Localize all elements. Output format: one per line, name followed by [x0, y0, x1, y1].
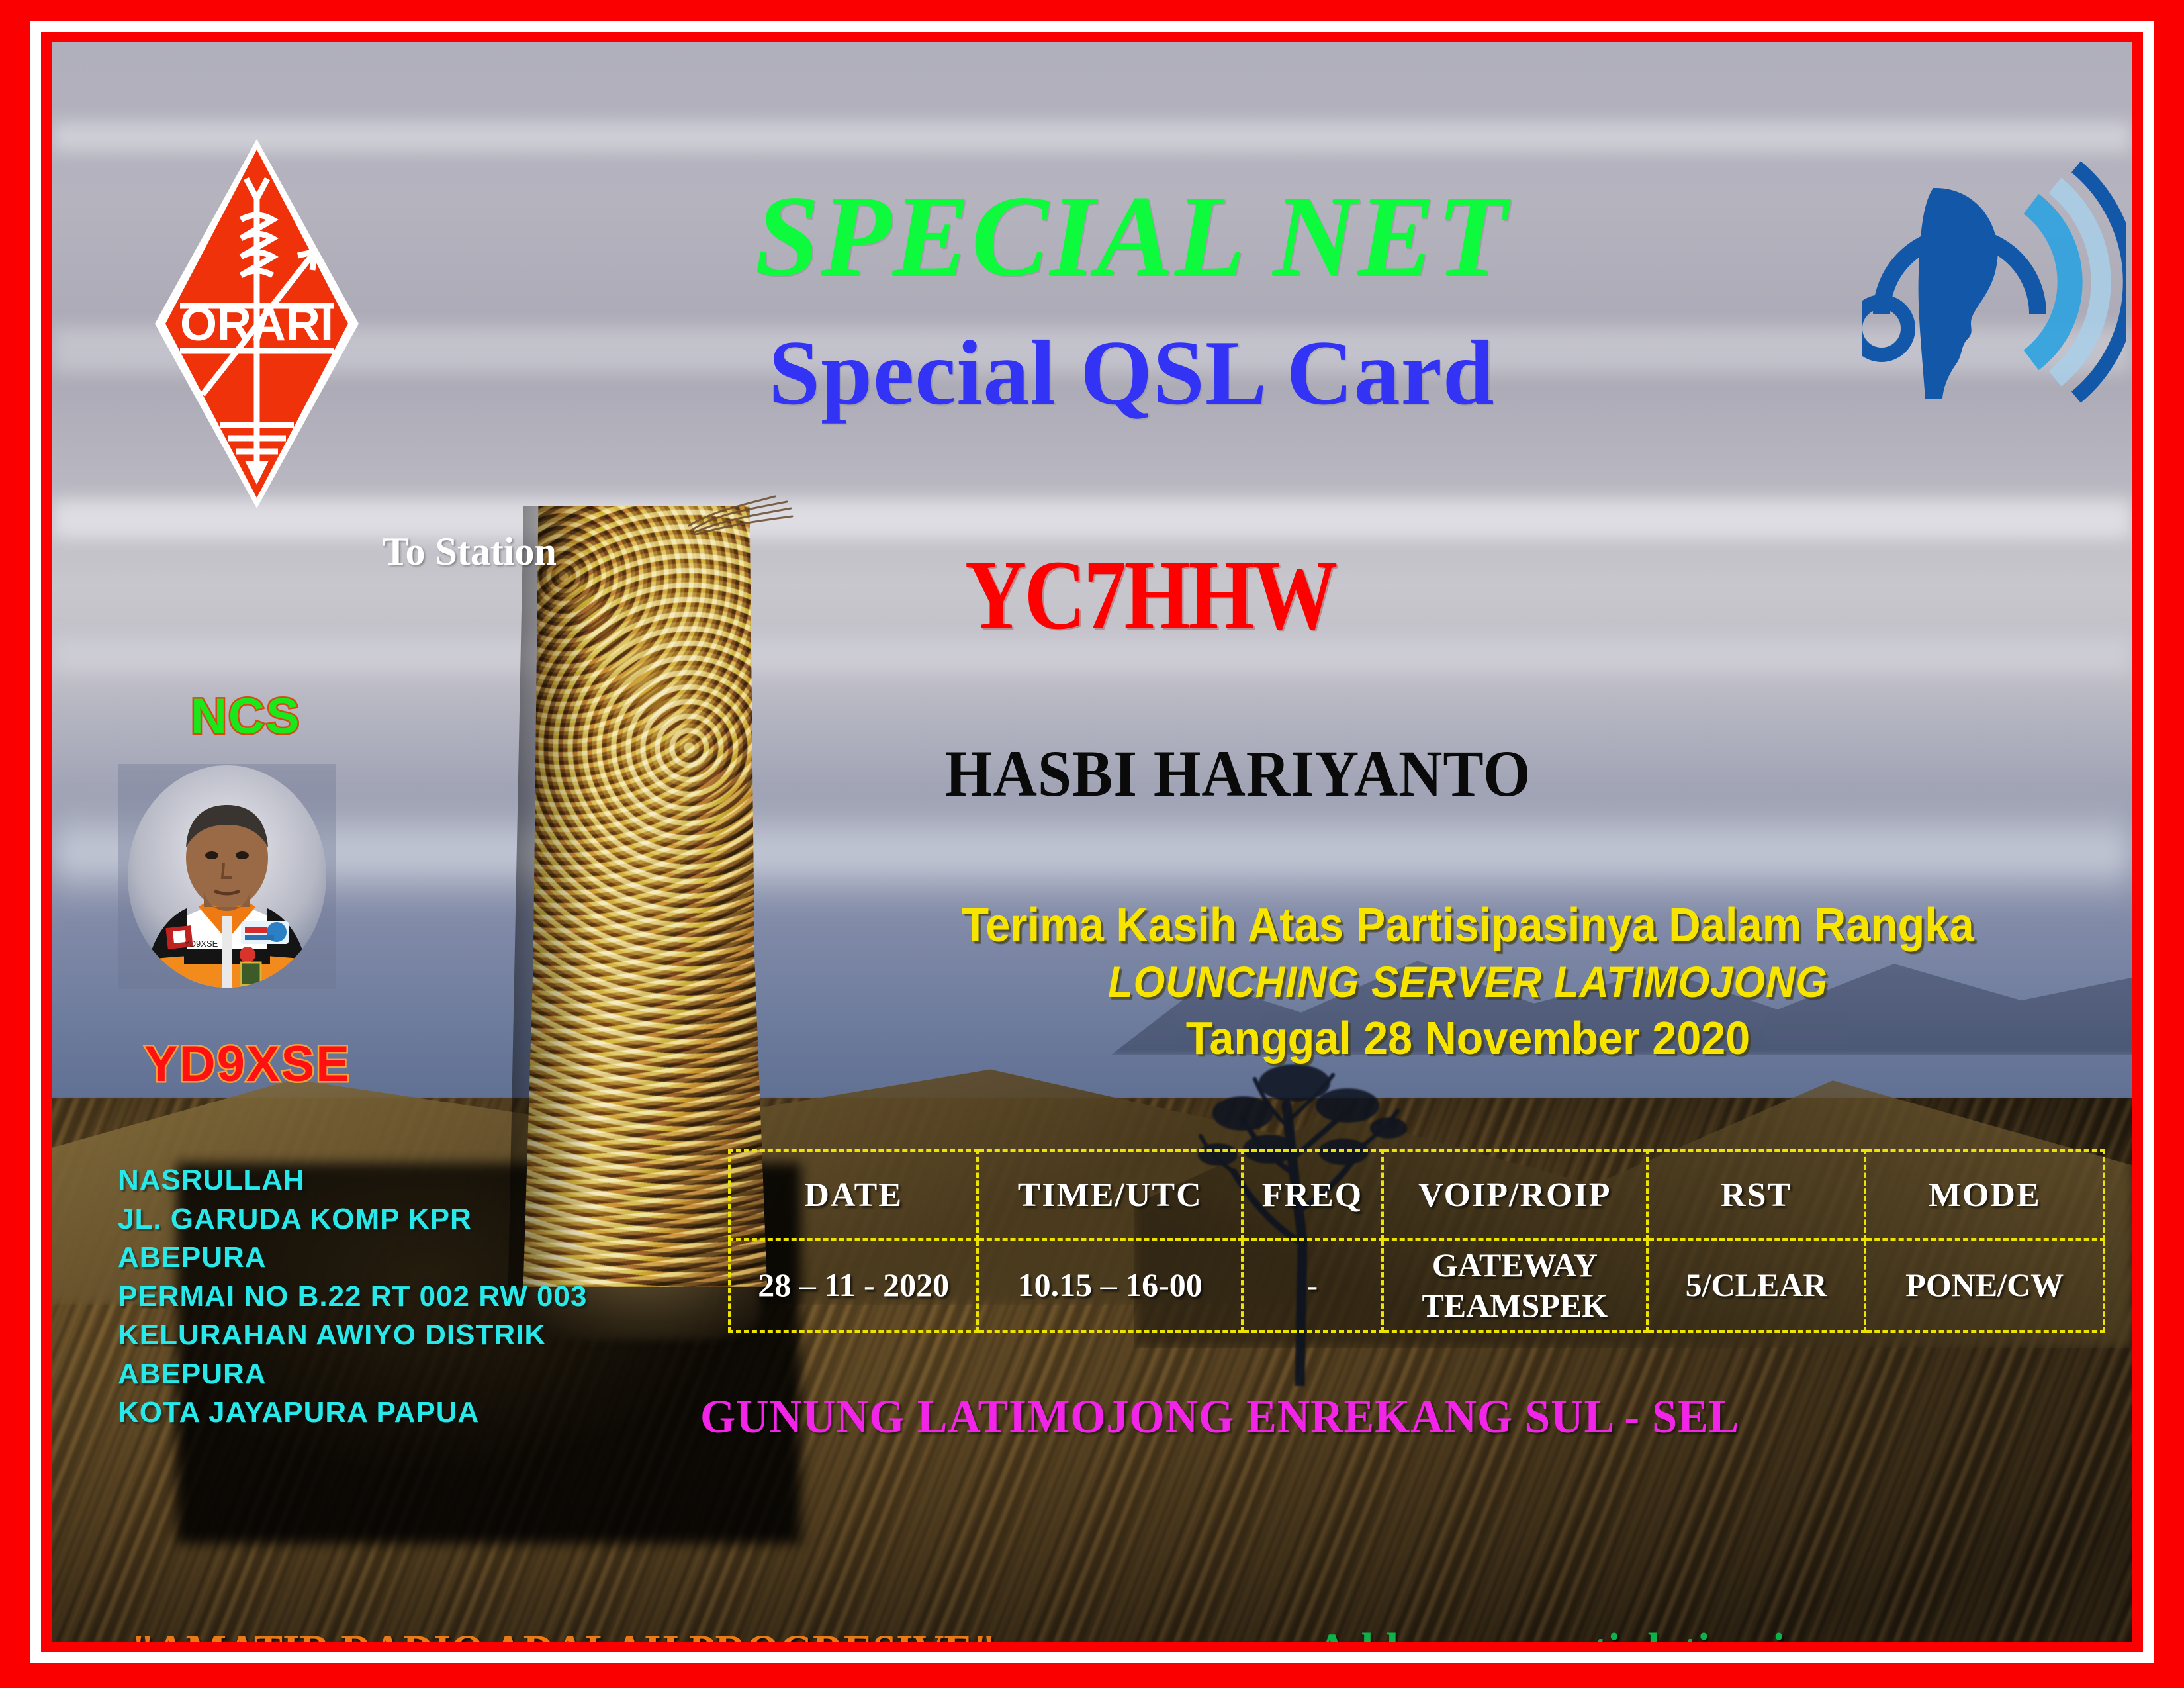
- table-header-mode: MODE: [1865, 1150, 2104, 1239]
- ncs-callsign: YD9XSE: [144, 1035, 351, 1093]
- photo-badge-callsign: YD9XSE: [184, 939, 218, 949]
- page-subtitle-special-qsl-card: Special QSL Card: [52, 327, 2132, 420]
- table-cell-rst: 5/CLEAR: [1647, 1239, 1866, 1331]
- operator-name: HASBI HARIYANTO: [945, 741, 1531, 807]
- cloud-band: [52, 122, 2132, 152]
- grass-tuft-icon: [688, 492, 794, 535]
- cloud-band: [52, 499, 2132, 539]
- address-line: ABEPURA: [118, 1355, 587, 1394]
- footer-motto: "AMATIR RADIO ADALAH PROGRESIVE": [131, 1624, 996, 1642]
- address-line: KELURAHAN AWIYO DISTRIK: [118, 1316, 587, 1355]
- table-header-rst: RST: [1647, 1150, 1866, 1239]
- table-cell-date: 28 – 11 - 2020: [729, 1239, 978, 1331]
- thanks-block: Terima Kasih Atas Partisipasinya Dalam R…: [819, 896, 2116, 1067]
- horizon-haze: [52, 804, 2132, 903]
- address-line: ABEPURA: [118, 1239, 587, 1278]
- address-line: JL. GARUDA KOMP KPR: [118, 1200, 587, 1239]
- address-line: NASRULLAH: [118, 1161, 587, 1200]
- table-header-time: TIME/UTC: [978, 1150, 1242, 1239]
- page-title-special-net: SPECIAL NET: [52, 178, 2132, 294]
- card-background-photo: ORARI SPECIAL NET Special QSL Card To St…: [52, 42, 2132, 1642]
- address-line: PERMAI NO B.22 RT 002 RW 003: [118, 1278, 587, 1317]
- callsign-value: YC7HHW: [965, 545, 1336, 645]
- table-cell-mode: PONE/CW: [1865, 1239, 2104, 1331]
- to-station-label: To Station: [383, 529, 557, 575]
- table-cell-voip: GATEWAY TEAMSPEK: [1383, 1239, 1647, 1331]
- table-header-row: DATE TIME/UTC FREQ VOIP/ROIP RST MODE: [729, 1150, 2104, 1239]
- ncs-label: NCS: [191, 688, 300, 745]
- thanks-line-3: Tanggal 28 November 2020: [852, 1009, 2084, 1067]
- address-block: NASRULLAH JL. GARUDA KOMP KPR ABEPURA PE…: [118, 1161, 587, 1432]
- address-line: KOTA JAYAPURA PAPUA: [118, 1393, 587, 1432]
- table-header-freq: FREQ: [1242, 1150, 1383, 1239]
- qsl-card: ORARI SPECIAL NET Special QSL Card To St…: [0, 0, 2184, 1688]
- table-header-voip: VOIP/ROIP: [1383, 1150, 1647, 1239]
- qso-log-table: DATE TIME/UTC FREQ VOIP/ROIP RST MODE 28…: [728, 1149, 2105, 1333]
- table-cell-time: 10.15 – 16-00: [978, 1239, 1242, 1331]
- footer-web-address: Address : amatir.latimojong.com: [1316, 1623, 1946, 1642]
- thanks-line-1: Terima Kasih Atas Partisipasinya Dalam R…: [865, 896, 2071, 955]
- operator-photo: YD9XSE: [118, 764, 336, 989]
- table-header-date: DATE: [729, 1150, 978, 1239]
- location-line: GUNUNG LATIMOJONG ENREKANG SUL - SEL: [700, 1389, 1739, 1444]
- table-cell-freq: -: [1242, 1239, 1383, 1331]
- table-row: 28 – 11 - 2020 10.15 – 16-00 - GATEWAY T…: [729, 1239, 2104, 1331]
- thanks-line-2: LOUNCHING SERVER LATIMOJONG: [865, 955, 2071, 1009]
